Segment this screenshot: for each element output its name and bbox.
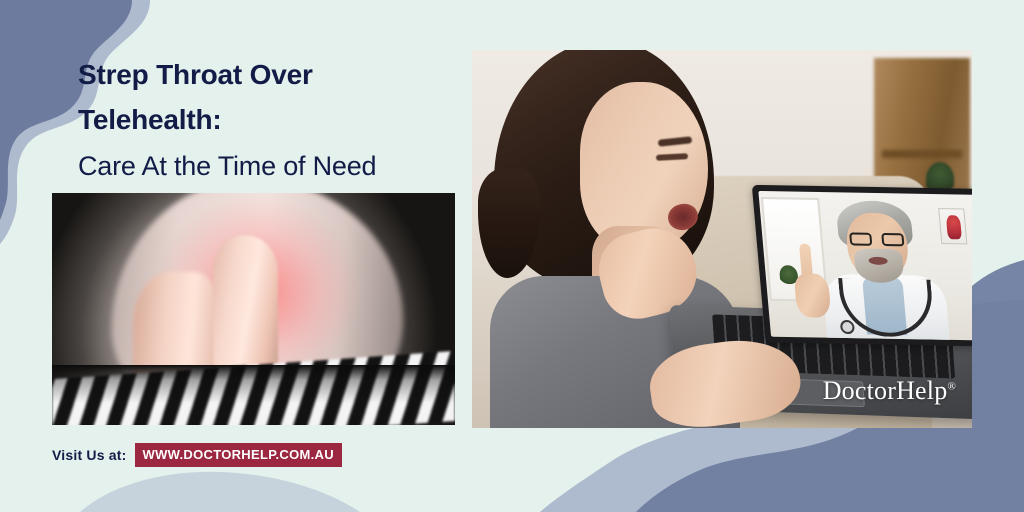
bottom-left-blob-shape <box>80 472 360 512</box>
telehealth-photo: DoctorHelp® <box>472 50 972 428</box>
doctor-glasses-icon <box>846 232 907 246</box>
striped-shirt-shadow <box>52 365 455 425</box>
laptop-lid <box>752 185 972 347</box>
doctorhelp-logo: DoctorHelp® <box>823 376 956 406</box>
headline-line-2: Telehealth: <box>78 97 478 142</box>
headline-line-3: Care At the Time of Need <box>78 142 478 190</box>
throat-finger-shape <box>213 235 277 374</box>
registered-trademark-icon: ® <box>947 380 956 392</box>
headline-line-1: Strep Throat Over <box>78 52 478 97</box>
video-call-screen <box>758 191 972 341</box>
marketing-banner: Strep Throat Over Telehealth: Care At th… <box>0 0 1024 512</box>
headline-block: Strep Throat Over Telehealth: Care At th… <box>78 52 478 190</box>
doctor-wall-poster <box>938 208 967 244</box>
sore-throat-photo <box>52 193 455 425</box>
doctorhelp-logo-text: DoctorHelp <box>823 376 948 405</box>
footer-cta: Visit Us at: WWW.DOCTORHELP.COM.AU <box>52 443 342 467</box>
stethoscope-bell-icon <box>840 320 855 334</box>
visit-us-label: Visit Us at: <box>52 447 127 463</box>
doctor-mouth <box>868 257 888 265</box>
website-url-badge[interactable]: WWW.DOCTORHELP.COM.AU <box>135 443 342 467</box>
